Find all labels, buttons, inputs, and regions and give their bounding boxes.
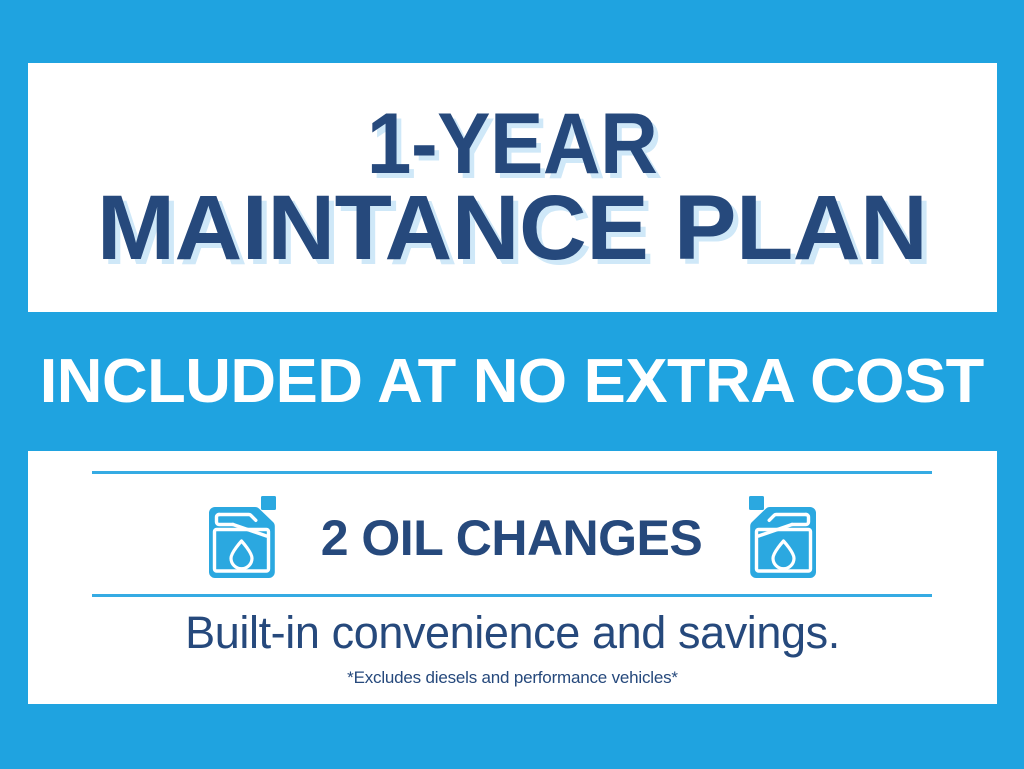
subtitle-text: INCLUDED AT NO EXTRA COST [40,346,984,417]
divider-top [92,471,932,474]
details-panel: 2 OIL CHANGES Built-in convenience and s… [28,451,997,704]
feature-row: 2 OIL CHANGES [28,485,997,591]
fine-print-text: *Excludes diesels and performance vehicl… [28,668,997,688]
oil-jug-icon-right [746,496,818,580]
headline-line-1: 1-YEAR [367,105,658,184]
feature-label: 2 OIL CHANGES [321,509,703,567]
headline-panel: 1-YEAR MAINTANCE PLAN [28,63,997,312]
headline-line-2: MAINTANCE PLAN [97,186,927,271]
subtitle-band: INCLUDED AT NO EXTRA COST [0,312,1024,451]
oil-jug-icon-left [207,496,279,580]
tagline-text: Built-in convenience and savings. [28,607,997,659]
divider-bottom [92,594,932,597]
promo-poster: 1-YEAR MAINTANCE PLAN INCLUDED AT NO EXT… [0,0,1024,769]
